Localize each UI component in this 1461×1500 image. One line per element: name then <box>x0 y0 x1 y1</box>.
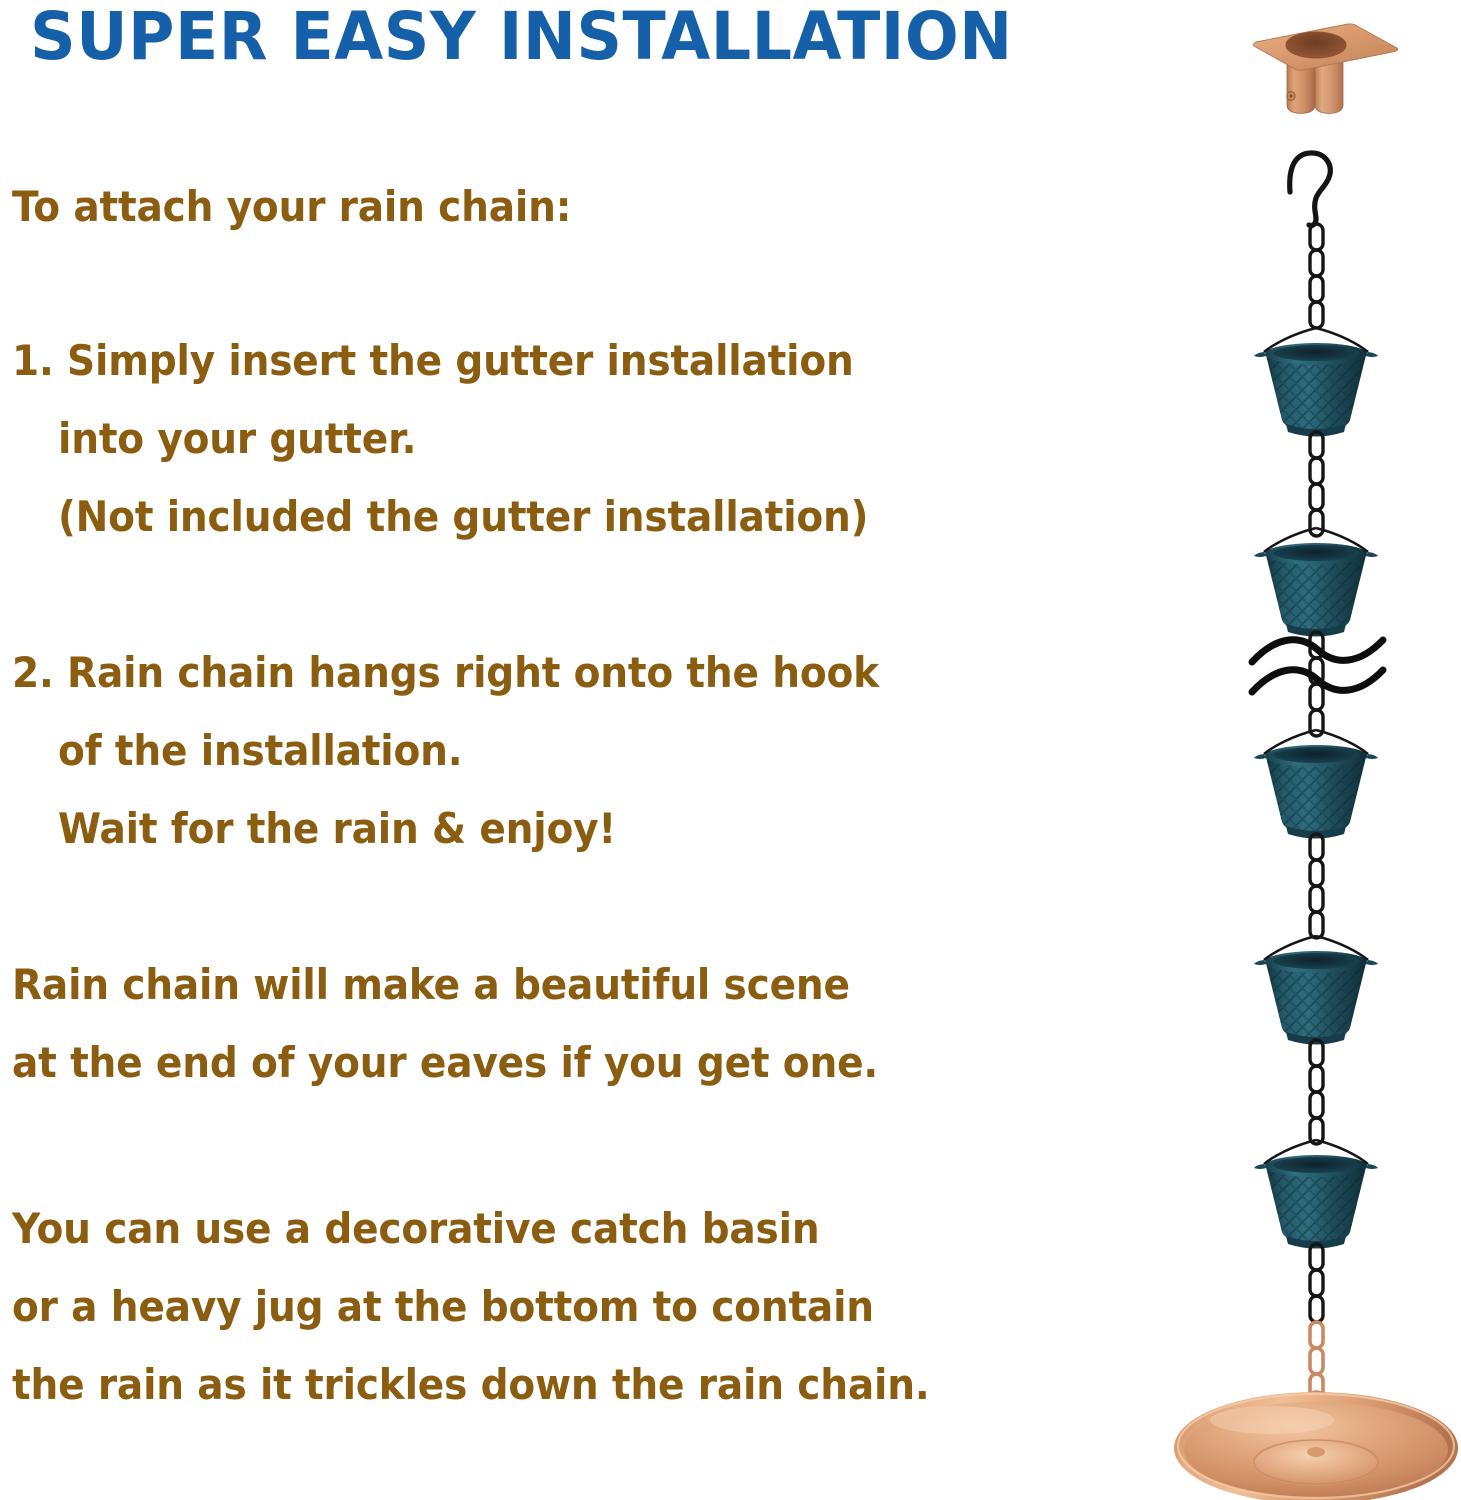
s-hook-icon <box>1290 153 1331 226</box>
paragraph-2-line-2: or a heavy jug at the bottom to contain <box>12 1282 874 1331</box>
cup-4 <box>1254 936 1378 1045</box>
installation-infographic: SUPER EASY INSTALLATION To attach your r… <box>0 0 1461 1500</box>
chain-links-segment-2 <box>1310 432 1323 536</box>
cup-3 <box>1254 730 1378 839</box>
catch-basin-icon <box>1174 1392 1458 1500</box>
chain-links-segment-5 <box>1310 1040 1323 1144</box>
gutter-bracket-icon <box>1253 24 1397 114</box>
step-1-line-1: 1. Simply insert the gutter installation <box>12 336 854 385</box>
step-1-line-2: into your gutter. <box>58 414 416 463</box>
step-2-line-1: 2. Rain chain hangs right onto the hook <box>12 648 879 697</box>
cup-1 <box>1254 328 1378 437</box>
chain-links-segment-4 <box>1310 834 1323 938</box>
paragraph-2-line-3: the rain as it trickles down the rain ch… <box>12 1360 929 1409</box>
instruction-text-column: SUPER EASY INSTALLATION To attach your r… <box>0 0 1180 1500</box>
paragraph-2-line-1: You can use a decorative catch basin <box>12 1204 819 1253</box>
cup-2 <box>1254 528 1378 637</box>
rain-chain-product-illustration <box>1140 0 1461 1500</box>
chain-links-segment-6 <box>1310 1244 1323 1322</box>
step-1-line-3: (Not included the gutter installation) <box>58 492 868 541</box>
chain-links-segment-1 <box>1310 224 1323 328</box>
step-2-line-3: Wait for the rain & enjoy! <box>58 804 616 853</box>
step-2-line-2: of the installation. <box>58 726 462 775</box>
page-title: SUPER EASY INSTALLATION <box>30 2 1013 71</box>
cup-5 <box>1254 1140 1378 1249</box>
paragraph-1-line-2: at the end of your eaves if you get one. <box>12 1038 878 1087</box>
rain-chain-svg <box>1140 0 1461 1500</box>
paragraph-1-line-1: Rain chain will make a beautiful scene <box>12 960 850 1009</box>
intro-line: To attach your rain chain: <box>12 182 571 231</box>
